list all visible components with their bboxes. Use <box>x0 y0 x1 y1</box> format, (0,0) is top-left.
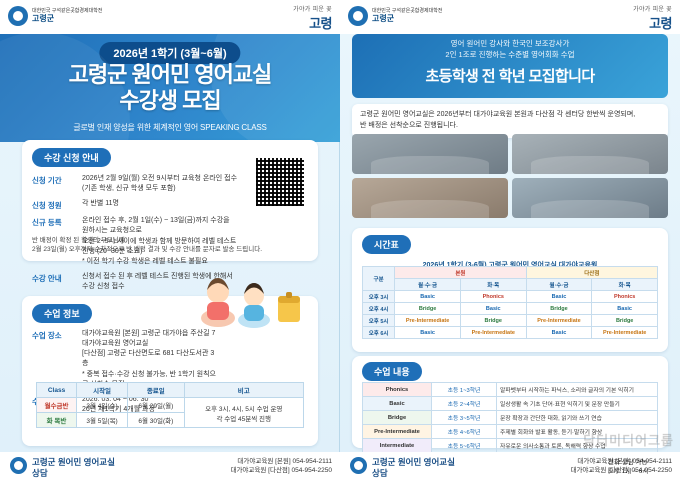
table-row: 오후 4시 Bridge Basic Bridge Basic <box>363 303 658 315</box>
th-start: 시작일 <box>77 383 128 398</box>
gov-logo-name-right: 고령군 <box>372 14 442 24</box>
cell-note-line2: 각 수업 45분씩 진행 <box>186 413 303 423</box>
apply-section-heading: 수강 신청 안내 <box>32 148 111 167</box>
footer-contact: 대가야교육원 [본원] 054-954-2111 대가야교육원 [다산점] 05… <box>230 457 332 475</box>
content-desc: 일상생활 속 기초 단어·표현 익히기 및 문장 만들기 <box>497 397 658 411</box>
schedule-cell: Basic <box>526 327 592 339</box>
right-header-line2: 초등학생 전 학년 모집합니다 <box>352 65 668 86</box>
th-group-main: 본원 <box>395 267 526 279</box>
apply-row: 신청 정원 각 반별 11명 <box>32 199 237 211</box>
apply-row-key: 신청 기간 <box>32 174 82 186</box>
content-grade: 초등 4~6학년 <box>432 425 497 439</box>
cell-class: 화 목반 <box>37 413 77 428</box>
cell-start: 3월 4일(수) <box>77 398 128 413</box>
gov-logo-name: 고령군 <box>32 14 102 24</box>
row-time: 오후 4시 <box>363 303 395 315</box>
schedule-cell: Bridge <box>592 315 658 327</box>
table-row: Bridge 초등 3~5학년 문장 확장과 간단한 대화, 읽기와 쓰기 연습 <box>363 411 658 425</box>
cell-end: 6월 29일(월) <box>128 398 184 413</box>
schedule-cell: Bridge <box>395 303 461 315</box>
gov-logo: 대한민국 구석같은곳합경제대학전 고령군 <box>8 6 102 26</box>
schedule-section-heading: 시간표 <box>362 235 411 254</box>
schedule-cell: Basic <box>395 291 461 303</box>
footer-title-right: 고령군 원어민 영어교실 상담 <box>372 457 455 478</box>
table-row: Basic 초등 2~4학년 일상생활 속 기초 단어·표현 익히기 및 문장 … <box>363 397 658 411</box>
gov-emblem-icon <box>8 6 28 26</box>
footer-emblem-icon <box>10 457 27 474</box>
content-level: Pre-Intermediate <box>363 425 432 439</box>
right-footer: 고령군 원어민 영어교실 상담 전화 상담 가능 오후 1시 ~ 6시 대가야교… <box>340 452 680 479</box>
th-note: 비고 <box>184 383 304 398</box>
brand-slogan: 가야가 피운 꽃 <box>293 4 332 13</box>
schedule-cell: Basic <box>460 303 526 315</box>
table-header-row: 구분 본원 다산점 <box>363 267 658 279</box>
schedule-cell: Phonics <box>592 291 658 303</box>
cell-note: 오후 3시, 4시, 5시 수업 운영 각 수업 45분씩 진행 <box>184 398 304 428</box>
footer-contact-right: 대가야교육원 [본원] 054-954-2111 대가야교육원 [다산점] 05… <box>570 457 672 475</box>
cell-start: 3월 5일(목) <box>77 413 128 428</box>
content-section-heading: 수업 내용 <box>362 362 422 381</box>
apply-note: 반 배정이 확정 된 학생의 부모님께 2월 23일(월) 오후까지 순차적으로… <box>32 236 262 256</box>
content-desc: 알파벳부터 시작하는 파닉스, 소리와 글자의 기본 익히기 <box>497 383 658 397</box>
cell-class: 월수금반 <box>37 398 77 413</box>
brand-name: 고령 <box>293 13 332 32</box>
cell-end: 6월 30일(화) <box>128 413 184 428</box>
classroom-photo <box>512 178 668 218</box>
table-row: 오후 6시 Basic Pre-Intermediate Basic Pre-I… <box>363 327 658 339</box>
classroom-photo <box>352 178 508 218</box>
th-class: Class <box>37 383 77 398</box>
th-day-1: 월·수·금 <box>395 279 461 291</box>
content-level: Phonics <box>363 383 432 397</box>
gov-logo-sub: 대한민국 구석같은곳합경제대학전 <box>32 8 102 14</box>
schedule-card: 시간표 2026년 1학기 (3-6월) 고령군 원어민 영어교실 대가야교육원… <box>352 228 668 352</box>
poster-title-line1: 고령군 원어민 영어교실 <box>0 62 340 88</box>
class-schedule-table: Class 시작일 종료일 비고 월수금반 3월 4일(수) 6월 29일(월)… <box>36 382 304 428</box>
apply-info-card: 수강 신청 안내 신청 기간 2026년 2월 9일(월) 오전 9시부터 교육… <box>22 140 318 261</box>
term-pill: 2026년 1학기 (3월~6월) <box>99 42 240 64</box>
right-description: 고령군 원어민 영어교실은 2026년부터 대가야교육원 본원과 다산점 각 센… <box>352 104 668 138</box>
content-grade: 초등 3~5학년 <box>432 411 497 425</box>
schedule-cell: Bridge <box>460 315 526 327</box>
table-row: 월수금반 3월 4일(수) 6월 29일(월) 오후 3시, 4시, 5시 수업… <box>37 398 304 413</box>
th-end: 종료일 <box>128 383 184 398</box>
content-level: Basic <box>363 397 432 411</box>
gov-logo-text-right: 대한민국 구석같은곳합경제대학전 고령군 <box>372 8 442 24</box>
schedule-cell: Bridge <box>526 303 592 315</box>
row-time: 오후 5시 <box>363 315 395 327</box>
left-header-band: 2026년 1학기 (3월~6월) 고령군 원어민 영어교실 수강생 모집 글로… <box>0 34 340 142</box>
class-info-card: 수업 정보 수업 장소 대가야교육원 [본원] 고령군 대가야읍 주산길 7 대… <box>22 296 318 446</box>
content-level: Intermediate <box>363 439 432 453</box>
apply-row-key: 신청 정원 <box>32 199 82 211</box>
th-day-4: 화·목 <box>592 279 658 291</box>
class-row-key: 수업 장소 <box>32 329 82 341</box>
cell-note-line1: 오후 3시, 4시, 5시 수업 운영 <box>186 403 303 413</box>
apply-row-key: 수강 안내 <box>32 272 82 284</box>
content-level: Bridge <box>363 411 432 425</box>
poster-title-line2: 수강생 모집 <box>0 88 340 114</box>
gov-logo-right: 대한민국 구석같은곳합경제대학전 고령군 <box>348 6 442 26</box>
schedule-cell: Basic <box>592 303 658 315</box>
content-grade: 초등 2~4학년 <box>432 397 497 411</box>
class-section-heading: 수업 정보 <box>32 304 92 323</box>
poster-subtitle: 글로벌 인재 양성을 위한 체계적인 영어 SPEAKING CLASS <box>0 122 340 133</box>
students-illustration-icon <box>192 256 312 328</box>
watermark-text: 닥터미디어그룹 <box>583 430 674 449</box>
apply-row: 신청 기간 2026년 2월 9일(월) 오전 9시부터 교육청 온라인 접수 … <box>32 174 237 194</box>
content-grade: 초등 1~3학년 <box>432 383 497 397</box>
classroom-photo <box>512 134 668 174</box>
schedule-table: 구분 본원 다산점 월·수·금 화·목 월·수·금 화·목 오후 3시 Basi… <box>362 266 658 339</box>
brand-name-right: 고령 <box>633 13 672 32</box>
th-day-3: 월·수·금 <box>526 279 592 291</box>
class-row: 수업 장소 대가야교육원 [본원] 고령군 대가야읍 주산길 7 대가야교육원 … <box>32 329 217 390</box>
brand-logo-right: 가야가 피운 꽃 고령 <box>633 4 672 32</box>
schedule-cell: Phonics <box>460 291 526 303</box>
gov-logo-text: 대한민국 구석같은곳합경제대학전 고령군 <box>32 8 102 24</box>
footer-emblem-icon-right <box>350 457 367 474</box>
apply-row-value: 2026년 2월 9일(월) 오전 9시부터 교육청 온라인 접수 (기존 학생… <box>82 174 237 194</box>
schedule-cell: Pre-Intermediate <box>395 315 461 327</box>
table-row: 오후 3시 Basic Phonics Basic Phonics <box>363 291 658 303</box>
footer-title: 고령군 원어민 영어교실 상담 <box>32 457 115 478</box>
apply-row-value: 각 반별 11명 <box>82 199 119 209</box>
schedule-cell: Pre-Intermediate <box>526 315 592 327</box>
table-row: Phonics 초등 1~3학년 알파벳부터 시작하는 파닉스, 소리와 글자의… <box>363 383 658 397</box>
poster-title: 고령군 원어민 영어교실 수강생 모집 <box>0 62 340 114</box>
class-row-value: 대가야교육원 [본원] 고령군 대가야읍 주산길 7 대가야교육원 영어교실 [… <box>82 329 217 390</box>
left-logo-bar: 대한민국 구석같은곳합경제대학전 고령군 가야가 피운 꽃 고령 <box>0 0 340 34</box>
photo-grid <box>352 134 668 218</box>
right-header-box: 영어 원어민 강사와 한국인 보조강사가 2인 1조로 진행하는 수준별 영어회… <box>352 34 668 98</box>
qr-code-icon[interactable] <box>254 156 306 208</box>
left-footer: 고령군 원어민 영어교실 상담 대가야교육원 [본원] 054-954-2111… <box>0 452 340 479</box>
poster-page: 대한민국 구석같은곳합경제대학전 고령군 가야가 피운 꽃 고령 대한민국 구석… <box>0 0 680 479</box>
schedule-cell: Pre-Intermediate <box>460 327 526 339</box>
schedule-cell: Basic <box>526 291 592 303</box>
right-logo-bar: 대한민국 구석같은곳합경제대학전 고령군 가야가 피운 꽃 고령 <box>340 0 680 34</box>
schedule-cell: Pre-Intermediate <box>592 327 658 339</box>
classroom-photo <box>352 134 508 174</box>
row-time: 오후 6시 <box>363 327 395 339</box>
brand-logo: 가야가 피운 꽃 고령 <box>293 4 332 32</box>
table-header-row: Class 시작일 종료일 비고 <box>37 383 304 398</box>
content-grade: 초등 5~6학년 <box>432 439 497 453</box>
table-header-row: 월·수·금 화·목 월·수·금 화·목 <box>363 279 658 291</box>
schedule-cell: Basic <box>395 327 461 339</box>
row-time: 오후 3시 <box>363 291 395 303</box>
table-row: 오후 5시 Pre-Intermediate Bridge Pre-Interm… <box>363 315 658 327</box>
gov-emblem-icon-right <box>348 6 368 26</box>
brand-slogan-right: 가야가 피운 꽃 <box>633 4 672 13</box>
content-desc: 문장 확장과 간단한 대화, 읽기와 쓰기 연습 <box>497 411 658 425</box>
th-corner-gubun: 구분 <box>363 267 395 291</box>
th-group-dasan: 다산점 <box>526 267 657 279</box>
apply-row-key: 신규 등록 <box>32 216 82 228</box>
right-header-line1: 영어 원어민 강사와 한국인 보조강사가 2인 1조로 진행하는 수준별 영어회… <box>352 39 668 61</box>
gov-logo-sub-right: 대한민국 구석같은곳합경제대학전 <box>372 8 442 14</box>
th-day-2: 화·목 <box>460 279 526 291</box>
